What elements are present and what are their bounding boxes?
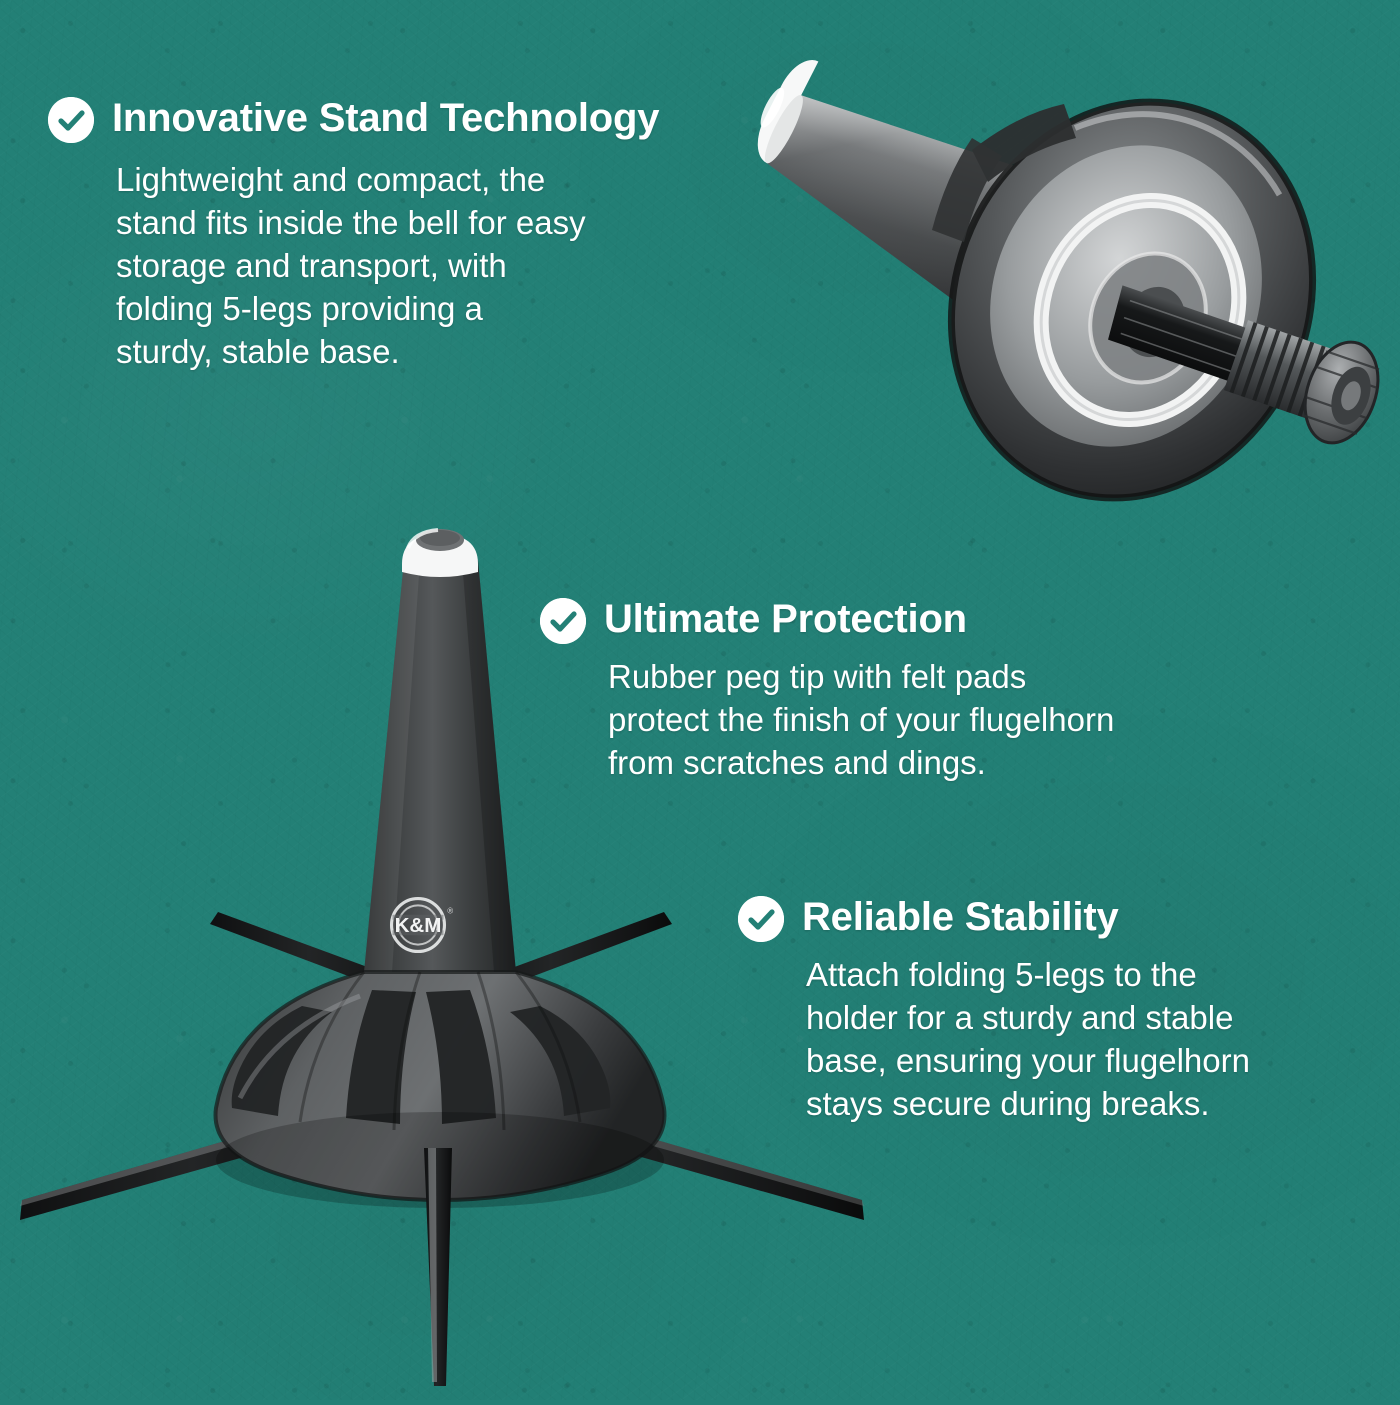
feature-title: Reliable Stability — [802, 896, 1119, 939]
feature-title: Innovative Stand Technology — [112, 97, 659, 140]
feature-title: Ultimate Protection — [604, 598, 967, 641]
feature-description: Lightweight and compact, the stand fits … — [116, 159, 716, 373]
feature-description: Rubber peg tip with felt pads protect th… — [608, 656, 1348, 785]
check-circle-icon — [48, 97, 94, 143]
feature-ultimate-protection: Ultimate Protection Rubber peg tip with … — [540, 598, 1340, 785]
feature-heading-row: Ultimate Protection — [540, 598, 1340, 644]
feature-description: Attach folding 5-legs to the holder for … — [806, 954, 1376, 1126]
check-circle-icon — [738, 896, 784, 942]
feature-reliable-stability: Reliable Stability Attach folding 5-legs… — [738, 896, 1378, 1126]
check-circle-icon — [540, 598, 586, 644]
feature-heading-row: Reliable Stability — [738, 896, 1378, 942]
feature-innovative-stand-technology: Innovative Stand Technology Lightweight … — [48, 97, 718, 373]
feature-heading-row: Innovative Stand Technology — [48, 97, 718, 143]
